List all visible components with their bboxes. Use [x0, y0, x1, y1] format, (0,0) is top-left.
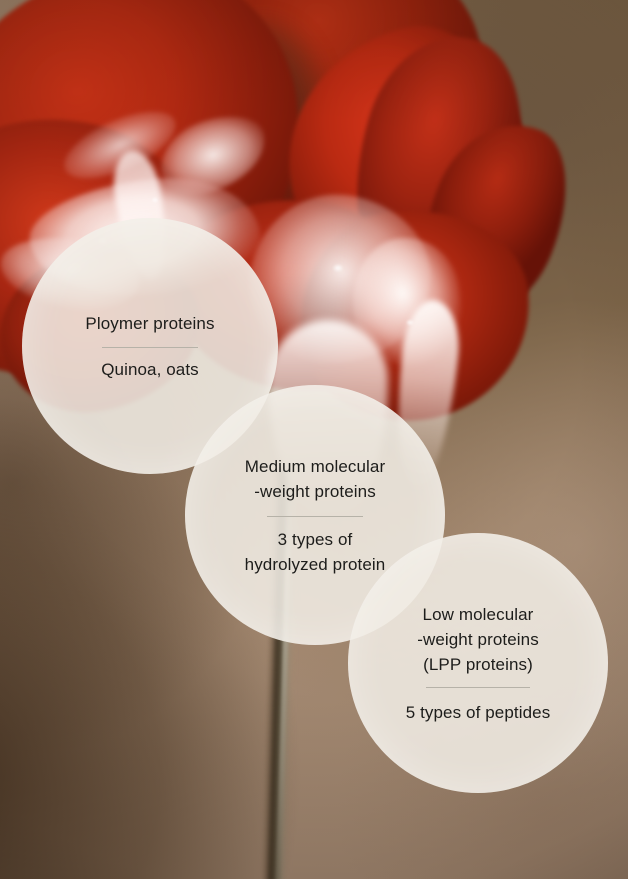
bubble-1-divider — [102, 347, 198, 348]
petal-shadow-pod — [268, 250, 388, 370]
bubble-3-title: Low molecular -weight proteins (LPP prot… — [417, 602, 539, 677]
milk-specular-4 — [404, 318, 416, 327]
bubble-3-divider — [426, 687, 530, 688]
milk-spike-center — [150, 105, 276, 206]
bubble-3-subtitle: 5 types of peptides — [406, 700, 551, 725]
milk-blob-right — [340, 228, 475, 378]
bubble-1-subtitle: Quinoa, oats — [101, 357, 199, 382]
milk-specular-3 — [330, 262, 346, 274]
bubble-2-subtitle: 3 types of hydrolyzed protein — [245, 527, 386, 577]
infographic-canvas: Ploymer proteins Quinoa, oats Medium mol… — [0, 0, 628, 879]
bubble-2-title: Medium molecular -weight proteins — [245, 454, 385, 504]
petal-shadow-gap — [198, 20, 328, 210]
milk-streak-top-left — [55, 98, 185, 192]
petal-right-inner — [329, 18, 552, 302]
petal-top-center — [140, 0, 490, 241]
petal-right-large — [262, 7, 561, 344]
milk-specular-2 — [150, 196, 160, 204]
bubble-1-title: Ploymer proteins — [85, 311, 214, 336]
petal-right-lower — [397, 103, 592, 337]
bubble-2-divider — [267, 516, 363, 517]
bubble-low-molecular-weight-proteins: Low molecular -weight proteins (LPP prot… — [348, 533, 608, 793]
